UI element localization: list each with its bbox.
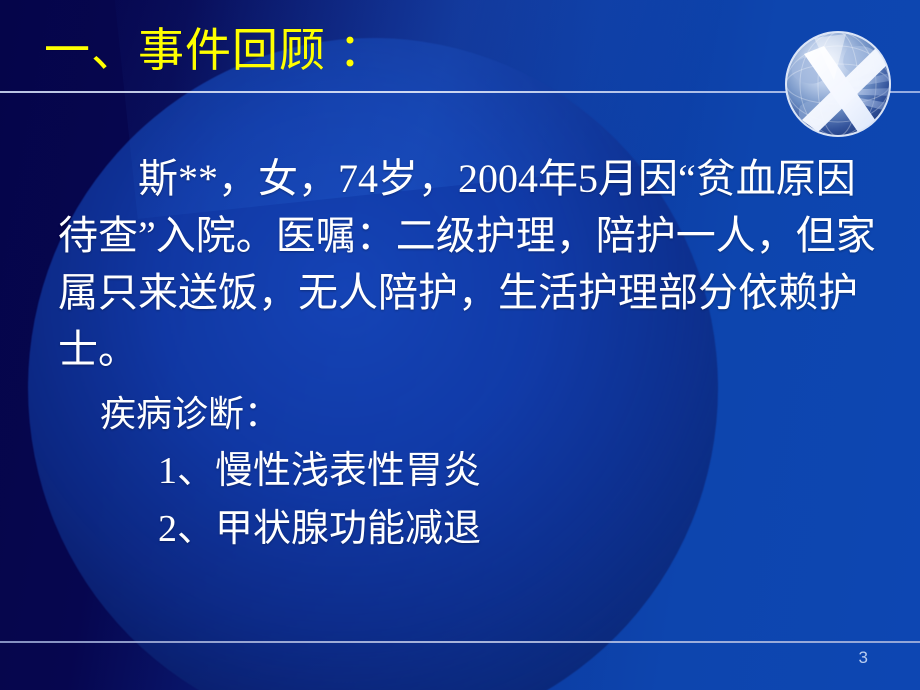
slide-body: 斯**，女，74岁，2004年5月因“贫血原因待查”入院。医嘱：二级护理，陪护一… (58, 150, 888, 558)
diagnosis-item-1: 1、慢性浅表性胃炎 (158, 442, 888, 500)
page-number: 3 (859, 648, 868, 668)
diagnosis-item-2: 2、甲状腺功能减退 (158, 500, 888, 558)
case-paragraph: 斯**，女，74岁，2004年5月因“贫血原因待查”入院。医嘱：二级护理，陪护一… (58, 150, 888, 378)
globe-icon (774, 20, 902, 148)
slide-title: 一、事件回顾 ： (44, 22, 386, 80)
diagnosis-heading: 疾病诊断： (100, 386, 888, 442)
footer-divider (0, 641, 920, 643)
presentation-slide: 一、事件回顾 ： (0, 0, 920, 690)
